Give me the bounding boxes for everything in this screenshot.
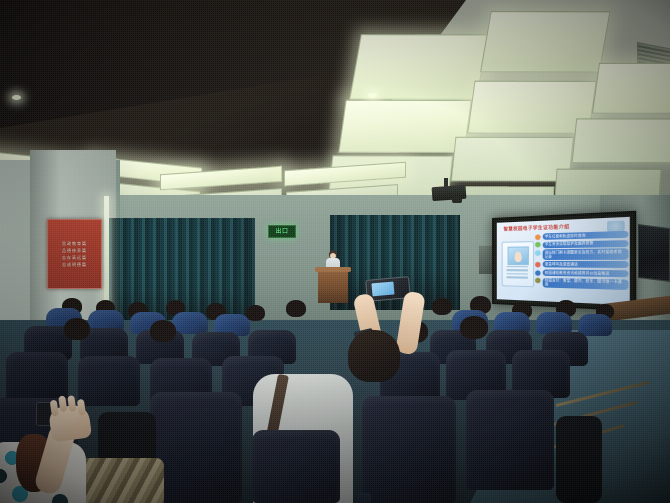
student-id-card-graphic [502, 241, 534, 287]
slide-bullet-item: 学生位置和轨迹实时查询 [535, 231, 628, 240]
slide-logo-icon [607, 221, 625, 232]
banner-line: 志成明德篇 [62, 263, 87, 267]
banner-line: 思政教育篇 [62, 242, 87, 246]
head [253, 330, 299, 374]
slide-bullet-item: 校园支付：食堂、超市、校车、图书馆一卡通用 [535, 277, 628, 290]
auditorium-seat[interactable] [252, 430, 340, 503]
woman-raising-phone [0, 400, 164, 503]
downlight-icon [12, 95, 21, 100]
projection-screen: 智慧校园电子学生证功能介绍 学生位置和轨迹实时查询 学生安全远程监护及越界预警 [492, 211, 636, 312]
auditorium-photo: 思政教育篇 品德修养篇 志存高远篇 志成明德篇 出口 智慧校园电子学生证功能介绍 [0, 0, 670, 503]
bullet-dot-icon [535, 278, 540, 283]
student-portrait-icon [508, 246, 529, 265]
bullet-dot-icon [535, 242, 540, 247]
bullet-dot-icon [535, 262, 540, 267]
bullet-dot-icon [535, 270, 540, 275]
bullet-text: 校园通知教育资讯和德育评价信息推送 [545, 270, 626, 276]
auditorium-seat[interactable] [536, 312, 572, 334]
bullet-text: 学生安全远程监护及越界预警 [545, 240, 626, 246]
banner-line: 品德修养篇 [62, 249, 87, 253]
id-card-detail-lines [507, 266, 528, 280]
slide-bullet-item: 紧急呼叫及语音通话 [535, 261, 628, 268]
raised-arm-right [395, 291, 425, 356]
bullet-text: 学生位置和轨迹实时查询 [545, 231, 626, 238]
hand [48, 403, 92, 442]
slide-title: 智慧校园电子学生证功能介绍 [504, 224, 570, 233]
slide-surface: 智慧校园电子学生证功能介绍 学生位置和轨迹实时查询 学生安全远程监护及越界预警 [497, 217, 630, 305]
slide-bullet-item: 进出校门刷卡提醒家长及校方，实时接收考勤记录 [535, 248, 628, 259]
handbag [78, 458, 164, 503]
auditorium-seat[interactable] [78, 356, 140, 406]
slide-bullet-list: 学生位置和轨迹实时查询 学生安全远程监护及越界预警 进出校门刷卡提醒家长及校方，… [535, 231, 628, 292]
wall-speaker-icon [638, 224, 670, 282]
slide-bullet-item: 校园通知教育资讯和德育评价信息推送 [535, 269, 628, 277]
wall-banner: 思政教育篇 品德修养篇 志存高远篇 志成明德篇 [47, 219, 102, 289]
slide-bullet-item: 学生安全远程监护及越界预警 [535, 240, 628, 248]
bullet-text: 紧急呼叫及语音通话 [545, 262, 626, 267]
exit-sign-label: 出口 [275, 229, 288, 235]
bullet-dot-icon [535, 234, 540, 239]
bullet-text: 进出校门刷卡提醒家长及校方，实时接收考勤记录 [545, 249, 626, 259]
seat-shadow [556, 416, 602, 503]
banner-line: 志存高远篇 [62, 256, 87, 260]
auditorium-seat[interactable] [466, 390, 554, 490]
auditorium-seat[interactable] [362, 396, 456, 503]
auditorium-seat[interactable] [6, 352, 68, 402]
downlight-icon [368, 93, 377, 98]
ceiling-camera-icon [452, 196, 462, 203]
bullet-text: 校园支付：食堂、超市、校车、图书馆一卡通用 [545, 278, 626, 290]
bullet-dot-icon [535, 250, 540, 255]
exit-sign: 出口 [268, 225, 296, 238]
vertical-strip-light [104, 196, 109, 314]
